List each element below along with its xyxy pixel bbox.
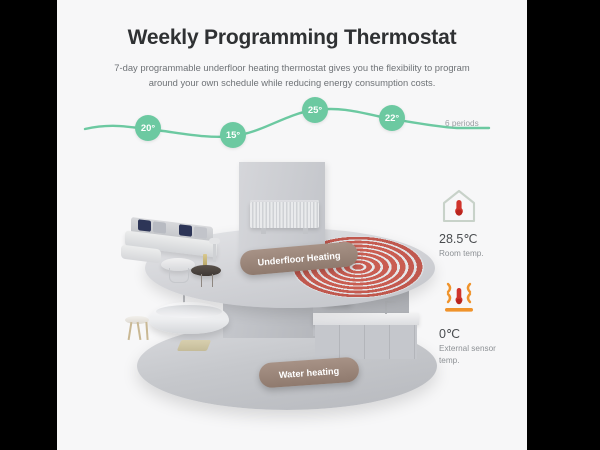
- stool-leg: [137, 322, 141, 340]
- external-temp-value: 0℃: [439, 326, 527, 341]
- radiator-foot: [303, 228, 308, 234]
- kitchen-cabinets: [315, 325, 417, 359]
- schedule-point-1[interactable]: 20°: [135, 115, 161, 141]
- external-temp-label: External sensor temp.: [439, 343, 527, 367]
- stool-leg: [128, 322, 132, 340]
- page-subtitle: 7-day programmable underfloor heating th…: [97, 60, 487, 90]
- sofa-pillow: [138, 219, 151, 232]
- wall-radiator: [250, 202, 319, 228]
- house-cutaway-illustration: Underfloor Heating Water heating: [117, 150, 437, 430]
- underfloor-heat-thermometer-icon: [439, 280, 527, 320]
- round-table-base: [169, 268, 189, 283]
- room-temp-value: 28.5℃: [439, 231, 527, 246]
- kitchen-faucet: [385, 302, 387, 314]
- letterbox-right: [527, 0, 600, 450]
- radiator-foot: [261, 228, 266, 234]
- kitchen-countertop: [313, 313, 419, 325]
- bath-mat: [177, 340, 211, 351]
- reading-external-sensor-temp: 0℃ External sensor temp.: [439, 280, 527, 367]
- periods-label: 6 periods: [445, 119, 479, 128]
- house-thermometer-icon: [439, 185, 527, 225]
- letterbox-left: [0, 0, 57, 450]
- subtitle-line-1: 7-day programmable underfloor heating th…: [97, 60, 487, 75]
- page-title: Weekly Programming Thermostat: [57, 26, 527, 50]
- schedule-point-4[interactable]: 22°: [379, 105, 405, 131]
- dark-table-legs: [201, 274, 213, 287]
- bathtub-basin: [156, 305, 222, 318]
- external-temp-label-line-1: External sensor: [439, 343, 527, 355]
- content-panel: Weekly Programming Thermostat 7-day prog…: [57, 0, 527, 450]
- subtitle-line-2: around your own schedule while reducing …: [97, 75, 487, 90]
- room-temp-label: Room temp.: [439, 248, 527, 260]
- reading-room-temp: 28.5℃ Room temp.: [439, 185, 527, 260]
- schedule-curve: 20° 15° 25° 22° 6 periods: [57, 95, 527, 153]
- sofa-pillow: [194, 226, 207, 239]
- sofa-pillow: [179, 224, 192, 237]
- sofa-pillow: [153, 221, 166, 234]
- schedule-point-2[interactable]: 15°: [220, 122, 246, 148]
- external-temp-label-line-2: temp.: [439, 355, 527, 367]
- kitchen-faucet-spout: [385, 301, 396, 303]
- floor-lamp-shade: [209, 238, 220, 244]
- schedule-point-3[interactable]: 25°: [302, 97, 328, 123]
- stool-leg: [145, 322, 148, 340]
- readings-panel: 28.5℃ Room temp. 0℃: [439, 185, 527, 387]
- screenshot-canvas: Weekly Programming Thermostat 7-day prog…: [0, 0, 600, 450]
- floor-lamp-pole: [213, 242, 216, 262]
